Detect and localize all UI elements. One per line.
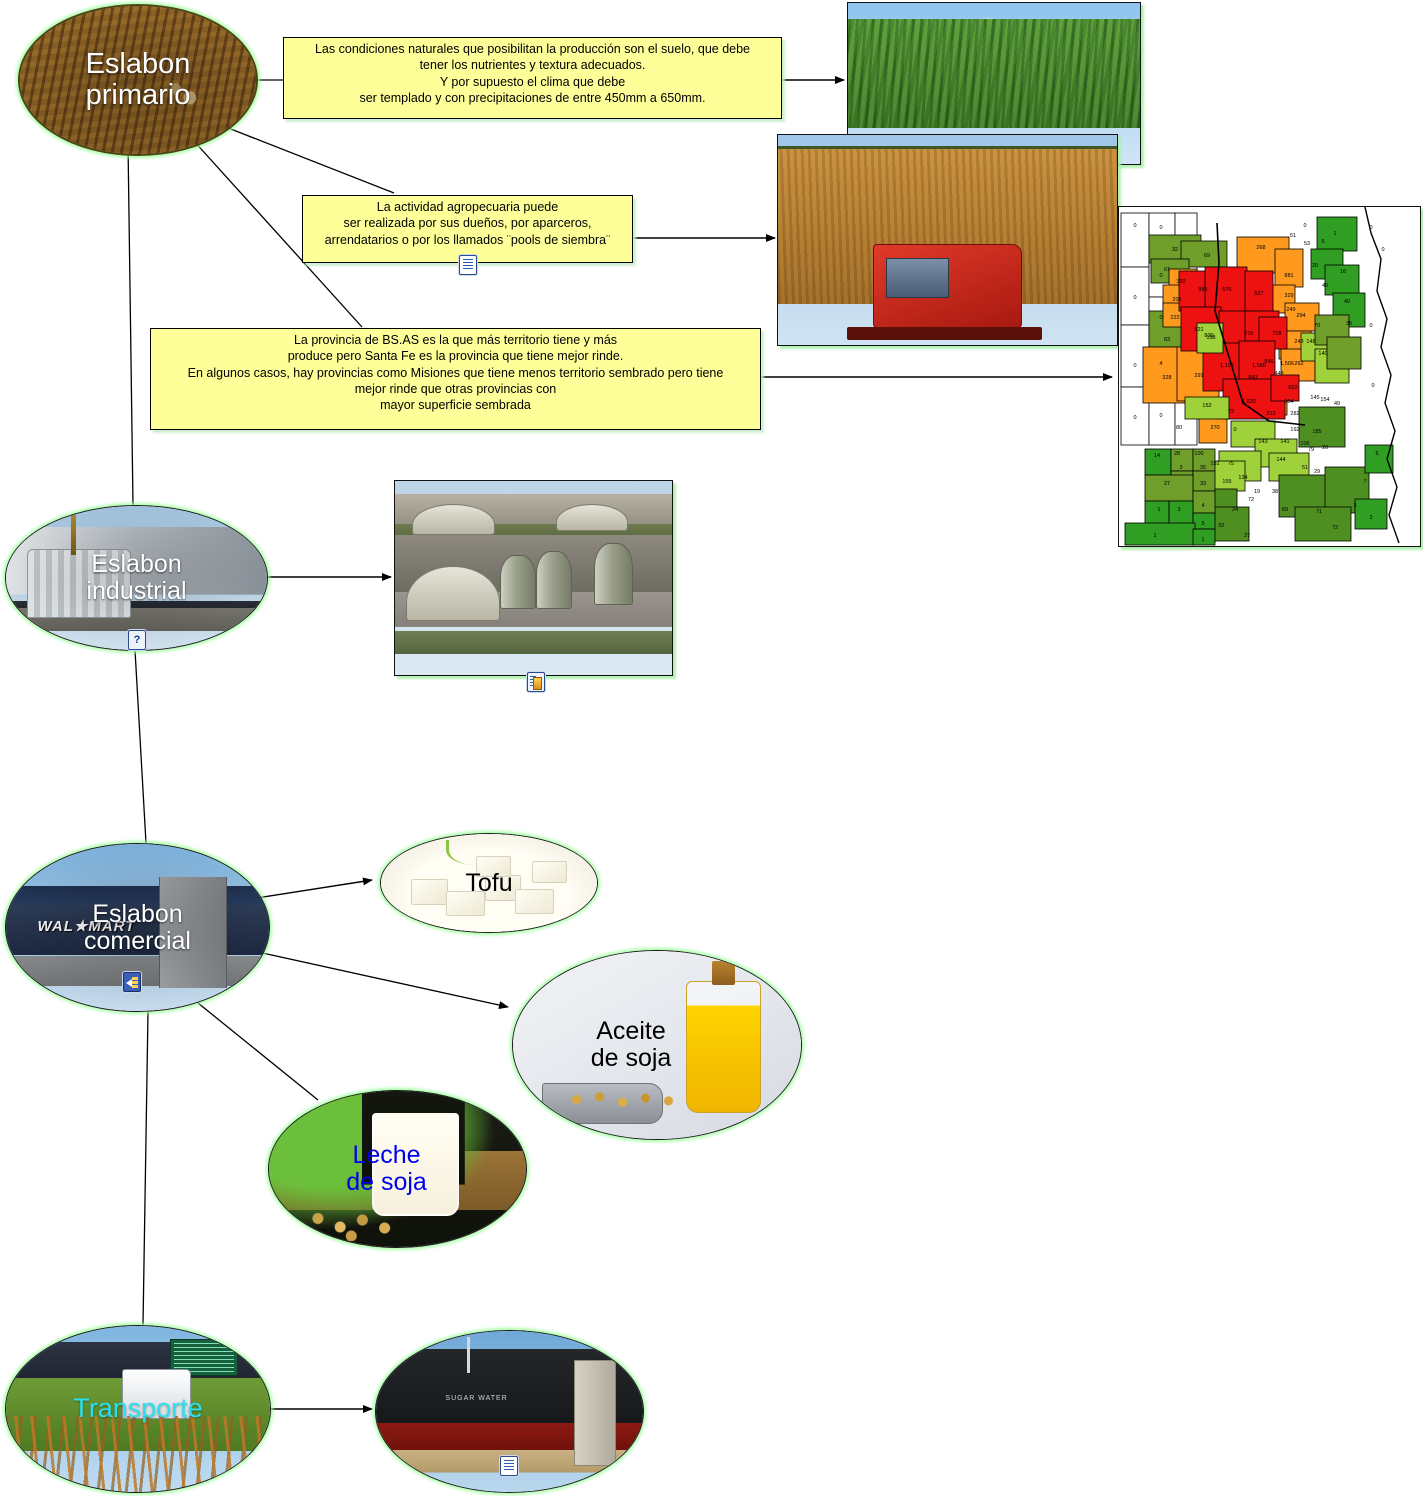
svg-text:3: 3 [1353, 503, 1356, 509]
svg-text:27: 27 [1164, 481, 1170, 487]
svg-text:69: 69 [1204, 253, 1210, 259]
svg-text:0: 0 [1133, 295, 1136, 301]
svg-text:0: 0 [1381, 247, 1384, 253]
svg-text:212: 212 [1266, 411, 1275, 417]
svg-text:846: 846 [1264, 359, 1273, 365]
svg-text:40: 40 [1322, 283, 1328, 289]
image-cosechadora[interactable] [777, 134, 1118, 346]
svg-text:1,830: 1,830 [1242, 399, 1256, 405]
svg-text:72: 72 [1332, 525, 1338, 531]
svg-text:61: 61 [1164, 267, 1170, 273]
svg-text:0: 0 [1159, 413, 1162, 419]
svg-text:3: 3 [1177, 507, 1180, 513]
svg-text:652: 652 [1288, 385, 1297, 391]
svg-text:0: 0 [1133, 223, 1136, 229]
svg-text:201: 201 [1172, 297, 1181, 303]
svg-text:29: 29 [1314, 469, 1320, 475]
svg-text:14: 14 [1154, 453, 1160, 459]
svg-text:79: 79 [1308, 447, 1314, 453]
svg-text:0: 0 [1369, 323, 1372, 329]
vignette [20, 6, 256, 154]
svg-text:2: 2 [1369, 515, 1372, 521]
tofu-photo [381, 834, 597, 932]
svg-text:16: 16 [1340, 269, 1346, 275]
svg-text:291: 291 [1194, 373, 1203, 379]
svg-text:154: 154 [1320, 397, 1329, 403]
silo [500, 555, 536, 609]
warehouse-dome [406, 566, 500, 620]
node-leche-de-soja[interactable]: Leche de soja [268, 1090, 527, 1248]
svg-text:527: 527 [1254, 291, 1263, 297]
node-transporte[interactable]: Transporte [5, 1325, 271, 1493]
svg-text:0: 0 [1159, 273, 1162, 279]
svg-text:49: 49 [1334, 401, 1340, 407]
link-primario-industrial [128, 143, 133, 505]
svg-text:985: 985 [1198, 287, 1207, 293]
note-line: ser realizada por sus dueños, por aparce… [307, 215, 628, 231]
vignette [6, 506, 267, 650]
note-line: ser templado y con precipitaciones de en… [288, 90, 777, 106]
svg-text:32: 32 [1172, 247, 1178, 253]
svg-text:0: 0 [1369, 225, 1372, 231]
svg-text:71: 71 [1316, 509, 1322, 515]
svg-text:1: 1 [1333, 231, 1336, 237]
svg-text:144: 144 [1276, 457, 1285, 463]
svg-text:75: 75 [1228, 461, 1234, 467]
note-provincias-rinde[interactable]: La provincia de BS.AS es la que más terr… [150, 328, 761, 430]
svg-text:80: 80 [1176, 425, 1182, 431]
svg-text:28: 28 [1174, 451, 1180, 457]
svg-text:38: 38 [1272, 489, 1278, 495]
node-eslabon-primario[interactable]: Eslabon primario [18, 4, 258, 156]
svg-text:728: 728 [1272, 331, 1281, 337]
note-line: En algunos casos, hay provincias como Mi… [155, 365, 756, 381]
svg-text:83: 83 [1164, 337, 1170, 343]
svg-text:576: 576 [1222, 287, 1231, 293]
svg-text:222: 222 [1170, 315, 1179, 321]
link-comercial-transporte [143, 1012, 148, 1325]
sound-icon[interactable] [123, 972, 141, 992]
ship-mast [467, 1337, 470, 1372]
soy-beans [565, 1086, 680, 1112]
svg-text:192: 192 [1290, 427, 1299, 433]
harvest-field-photo [778, 135, 1117, 345]
svg-text:141: 141 [1280, 439, 1289, 445]
silo [594, 543, 633, 605]
svg-text:821: 821 [1194, 327, 1203, 333]
svg-text:5: 5 [1201, 521, 1204, 527]
svg-text:881: 881 [1284, 273, 1293, 279]
svg-text:5: 5 [1321, 239, 1324, 245]
tofu-cube [532, 861, 567, 883]
svg-text:3: 3 [1179, 465, 1182, 471]
link-comercial-aceite [258, 952, 508, 1007]
svg-text:249: 249 [1286, 307, 1295, 313]
svg-text:0: 0 [1159, 225, 1162, 231]
note-line: La actividad agropecuaria puede [307, 199, 628, 215]
svg-text:198: 198 [1206, 335, 1215, 341]
svg-text:1: 1 [1153, 533, 1156, 539]
link-industrial-comercial [135, 650, 146, 843]
svg-text:0: 0 [1303, 223, 1306, 229]
oil-bottle [686, 981, 761, 1113]
soy-stalks-overlay [6, 1416, 270, 1492]
svg-text:282: 282 [1290, 411, 1299, 417]
svg-text:72: 72 [1248, 497, 1254, 503]
svg-text:0: 0 [1233, 427, 1236, 433]
warehouse-dome [556, 504, 628, 531]
chive-garnish [446, 840, 494, 865]
svg-text:70: 70 [1314, 323, 1320, 329]
svg-text:33: 33 [1200, 481, 1206, 487]
svg-text:24: 24 [1232, 507, 1238, 513]
note-line: mejor rinde que otras provincias con [155, 381, 756, 397]
svg-text:152: 152 [1202, 403, 1211, 409]
help-document-icon[interactable]: ? [128, 630, 146, 650]
svg-text:0: 0 [1159, 315, 1162, 321]
soy-processing-plant-photo [395, 481, 672, 675]
svg-text:268: 268 [1256, 245, 1265, 251]
svg-text:145: 145 [1310, 395, 1319, 401]
svg-text:262: 262 [1294, 361, 1303, 367]
note-line: tener los nutrientes y textura adecuados… [288, 57, 777, 73]
note-line: La provincia de BS.AS es la que más terr… [155, 332, 756, 348]
svg-text:134: 134 [1238, 475, 1247, 481]
node-tofu[interactable]: Tofu [380, 833, 598, 933]
silo [536, 551, 572, 609]
truck-transport-photo [6, 1326, 270, 1492]
svg-text:20: 20 [1312, 263, 1318, 269]
soy-beans [279, 1191, 418, 1241]
svg-text:27: 27 [1244, 533, 1250, 539]
combine-harvester-shape [873, 244, 1022, 328]
tofu-cube [446, 891, 485, 916]
note-actividad-agropecuaria[interactable]: La actividad agropecuaria puede ser real… [302, 195, 633, 263]
svg-text:33: 33 [1218, 523, 1224, 529]
svg-text:504: 504 [1284, 399, 1293, 405]
soy-oil-photo [513, 951, 801, 1139]
warehouse-dome [412, 504, 495, 535]
svg-text:148: 148 [1306, 339, 1315, 345]
image-planta-procesadora[interactable] [394, 480, 673, 676]
svg-text:329: 329 [1284, 293, 1293, 299]
document-icon[interactable] [459, 255, 477, 275]
svg-text:1,506: 1,506 [1280, 361, 1294, 367]
image-mapa-produccion-soja[interactable]: 0000 00040 326961 332201222 83328291 152… [1118, 206, 1421, 547]
svg-text:4: 4 [1159, 361, 1162, 367]
svg-text:72: 72 [1228, 409, 1234, 415]
svg-text:20: 20 [1322, 445, 1328, 451]
svg-text:843: 843 [1248, 375, 1257, 381]
svg-text:448: 448 [1274, 371, 1283, 377]
document-icon[interactable] [500, 1456, 518, 1476]
soy-milk-photo [269, 1091, 526, 1247]
svg-text:35: 35 [1346, 321, 1352, 327]
svg-text:6: 6 [1375, 451, 1378, 457]
link-comercial-leche [198, 1003, 318, 1100]
svg-text:328: 328 [1162, 375, 1171, 381]
svg-text:1: 1 [1157, 507, 1160, 513]
svg-text:716: 716 [1244, 331, 1253, 337]
svg-text:155: 155 [1222, 479, 1231, 485]
choropleth-map-svg: 0000 00040 326961 332201222 83328291 152… [1119, 207, 1421, 547]
svg-text:35: 35 [1200, 465, 1206, 471]
svg-text:140: 140 [1318, 351, 1327, 357]
svg-text:185: 185 [1312, 429, 1321, 435]
svg-text:1: 1 [1201, 537, 1204, 543]
svg-text:40: 40 [1344, 299, 1350, 305]
svg-text:332: 332 [1176, 279, 1185, 285]
svg-text:270: 270 [1210, 425, 1219, 431]
svg-text:19: 19 [1254, 489, 1260, 495]
diagram-canvas: Eslabon primario Las condiciones natural… [0, 0, 1423, 1496]
document-image-icon[interactable] [527, 672, 545, 692]
note-line: Y por supuesto el clima que debe [288, 74, 777, 90]
note-condiciones-naturales[interactable]: Las condiciones naturales que posibilita… [283, 37, 782, 119]
port-crane [574, 1360, 617, 1466]
ship-hull-name: SUGAR WATER [445, 1395, 507, 1402]
svg-text:243: 243 [1294, 339, 1303, 345]
svg-text:7: 7 [1363, 479, 1366, 485]
svg-text:51: 51 [1302, 465, 1308, 471]
tofu-cube [411, 879, 448, 904]
svg-text:0: 0 [1133, 363, 1136, 369]
svg-text:0: 0 [1133, 415, 1136, 421]
svg-text:100: 100 [1194, 451, 1203, 457]
svg-text:0: 0 [1371, 383, 1374, 389]
svg-text:53: 53 [1304, 241, 1310, 247]
note-line: mayor superficie sembrada [155, 397, 756, 413]
svg-text:51: 51 [1290, 233, 1296, 239]
note-line: produce pero Santa Fe es la provincia qu… [155, 348, 756, 364]
svg-text:4: 4 [1201, 503, 1204, 509]
note-line: Las condiciones naturales que posibilita… [288, 41, 777, 57]
truck-cab [122, 1369, 191, 1419]
svg-text:69: 69 [1282, 507, 1288, 513]
node-aceite-de-soja[interactable]: Aceite de soja [512, 950, 802, 1140]
tofu-cube [515, 889, 554, 914]
svg-text:143: 143 [1258, 439, 1267, 445]
svg-text:294: 294 [1296, 313, 1305, 319]
svg-text:1,123: 1,123 [1220, 363, 1234, 369]
svg-text:151: 151 [1210, 461, 1219, 467]
note-line: arrendatarios o por los llamados ¨pools … [307, 232, 628, 248]
